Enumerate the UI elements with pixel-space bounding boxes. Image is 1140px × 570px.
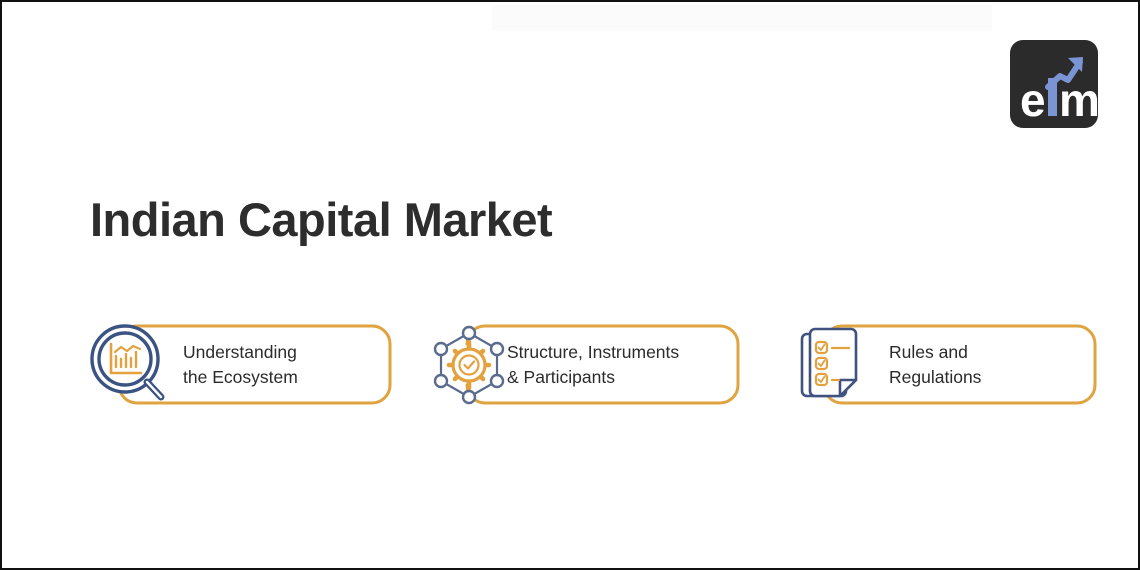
magnifier-bar-chart-icon — [87, 321, 171, 409]
slide-canvas: e m Indian Capital Market — [0, 0, 1140, 570]
elm-logo[interactable]: e m — [1010, 40, 1098, 128]
logo-letter-l — [1048, 78, 1057, 116]
document-checklist-icon — [799, 324, 865, 406]
top-band — [492, 5, 992, 31]
card-structure-instruments-participants[interactable]: Structure, Instruments & Participants — [465, 302, 740, 427]
card-label: Rules and Regulations — [889, 340, 981, 390]
logo-letter-e: e — [1020, 74, 1046, 126]
card-understanding-the-ecosystem[interactable]: Understanding the Ecosystem — [117, 302, 392, 427]
card-label: Understanding the Ecosystem — [183, 340, 298, 390]
page-title: Indian Capital Market — [90, 192, 552, 247]
card-label: Structure, Instruments & Participants — [507, 340, 679, 390]
cards-row: Understanding the Ecosystem — [2, 302, 1140, 432]
logo-letter-m: m — [1059, 74, 1098, 126]
card-rules-and-regulations[interactable]: Rules and Regulations — [822, 302, 1097, 427]
hexagon-network-gear-icon — [429, 322, 509, 408]
gear-shape — [449, 342, 489, 388]
